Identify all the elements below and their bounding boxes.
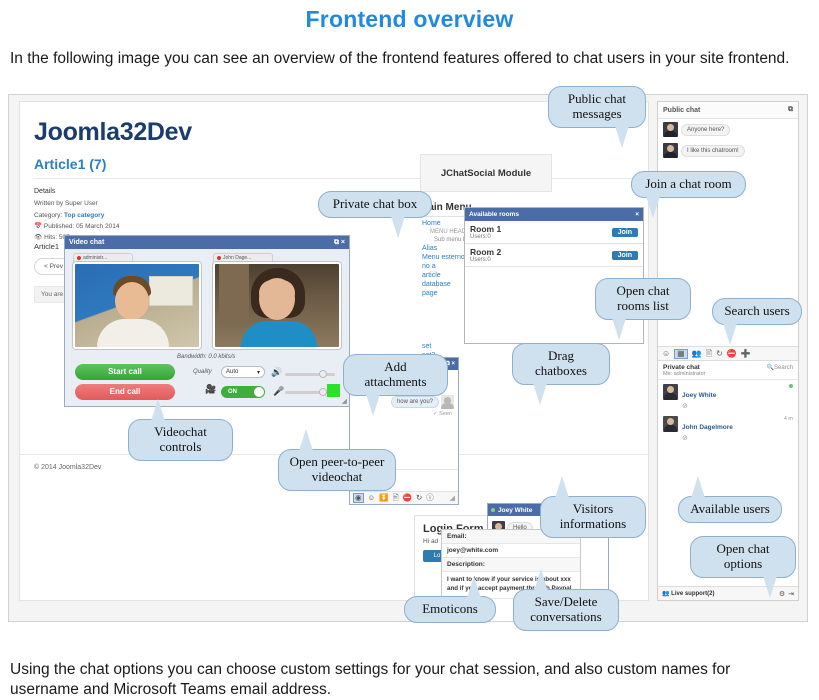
callout-label: Emoticons xyxy=(422,601,478,616)
callout-open-peer-to-peer-videochat: Open peer-to-peer videochat xyxy=(278,449,396,491)
public-chat-title: Public chat xyxy=(663,107,700,114)
callout-label: Drag chatboxes xyxy=(535,348,587,378)
start-call-button[interactable]: Start call xyxy=(75,364,175,380)
save-icon[interactable]: 🖹 xyxy=(706,350,712,358)
live-support-text: Live support(2) xyxy=(671,591,714,597)
refresh-icon[interactable]: ↻ xyxy=(416,494,422,502)
callout-label: Visitors informations xyxy=(560,501,626,531)
room-users: Users:0 xyxy=(470,234,501,240)
popout-icon[interactable]: ⧉ xyxy=(788,106,793,114)
message-bubble: how are you? xyxy=(391,396,439,408)
callout-private-chat-box: Private chat box xyxy=(318,191,432,218)
available-rooms-header: Available rooms × xyxy=(465,208,643,221)
page-title: Frontend overview xyxy=(0,6,819,33)
copyright-text: © 2014 Joomla32Dev xyxy=(34,464,101,471)
article-heading[interactable]: Article1 (7) xyxy=(34,156,106,172)
status-badge xyxy=(491,508,495,512)
list-item[interactable]: John Dagelmore ⊘ 4 m xyxy=(658,412,798,444)
save-icon[interactable]: 🖹 xyxy=(393,494,399,502)
video-pane-local: administr... xyxy=(73,253,201,349)
callout-label: Open peer-to-peer videochat xyxy=(290,454,385,484)
user-name: John Dagelmore xyxy=(682,424,733,431)
callout-open-chat-options: Open chat options xyxy=(690,536,796,578)
private-chat-subtitle: Me: administrator xyxy=(663,371,706,377)
eye-icon: 👁 xyxy=(34,234,42,241)
block-icon[interactable]: ⊘ xyxy=(682,403,789,410)
room-name: Room 1 xyxy=(470,224,501,234)
public-message: I like this chatroom! xyxy=(658,140,798,161)
info-icon[interactable]: ⓘ xyxy=(426,494,434,502)
video-label-remote: John Dage... xyxy=(213,253,273,262)
last-seen: 4 m xyxy=(784,416,793,442)
video-label-local: administr... xyxy=(73,253,133,262)
camera-toggle-label: ON xyxy=(228,389,237,395)
attachment-icon[interactable]: ⏬ xyxy=(379,494,388,502)
avatar xyxy=(663,416,678,432)
live-support-label[interactable]: 👥 Live support(2) xyxy=(662,590,715,597)
video-chat-title: Video chat xyxy=(69,239,104,246)
search-input[interactable]: 🔍Search xyxy=(767,364,794,371)
room-row: Room 2 Users:0 Join xyxy=(465,244,643,267)
article-body-label: Article1 xyxy=(34,242,59,251)
site-title: Joomla32Dev xyxy=(34,118,192,147)
description-label: Description: xyxy=(442,558,580,572)
maximize-icon[interactable]: ⧉ xyxy=(334,239,339,246)
callout-label: Videochat controls xyxy=(154,424,207,454)
close-icon[interactable]: × xyxy=(341,239,345,246)
video-pane-remote: John Dage... xyxy=(213,253,341,349)
avatar xyxy=(663,384,678,400)
callout-label: Public chat messages xyxy=(568,91,626,121)
search-placeholder: Search xyxy=(774,365,793,371)
sidebar-footer: 👥 Live support(2) ↗ ⚙ ⇥ xyxy=(658,586,798,600)
emoticon-icon[interactable]: ☺ xyxy=(662,350,670,358)
logout-icon[interactable]: ⇥ xyxy=(788,590,794,598)
email-value: joey@white.com xyxy=(442,544,580,558)
written-by: Written by Super User xyxy=(34,198,119,209)
bandwidth-label: Bandwidth: 0.0 kbits/s xyxy=(177,354,235,360)
room-name: Room 2 xyxy=(470,247,501,257)
callout-emoticons: Emoticons xyxy=(404,596,496,623)
quality-value: Auto xyxy=(226,369,238,375)
sidebar-toolbar: ☺ ▦ 👥 🖹 ↻ ⛔ ➕ xyxy=(658,346,798,361)
close-icon[interactable]: × xyxy=(451,361,455,367)
callout-label: Open chat options xyxy=(716,541,769,571)
room-row: Room 1 Users:0 Join xyxy=(465,221,643,244)
category-label: Category: xyxy=(34,212,62,219)
published-row: 📅 Published: 05 March 2014 xyxy=(34,221,119,232)
close-icon[interactable]: × xyxy=(635,211,639,218)
callout-visitors-informations: Visitors informations xyxy=(540,496,646,538)
search-icon: 🔍 xyxy=(767,365,774,371)
video-chat-header[interactable]: Video chat ⧉ × xyxy=(65,236,349,249)
list-item[interactable]: Joey White ⊘ xyxy=(658,380,798,412)
quality-label: Quality xyxy=(193,369,212,375)
private-chat-title: Private chat xyxy=(663,364,706,371)
refresh-icon[interactable]: ↻ xyxy=(716,350,723,358)
panel-icon[interactable]: ▦ xyxy=(674,349,688,359)
quality-select[interactable]: Auto ▾ xyxy=(221,366,265,378)
avatar xyxy=(663,122,678,137)
chat-options-icon[interactable]: ⚙ xyxy=(779,590,785,598)
callout-videochat-controls: Videochat controls xyxy=(128,419,233,461)
private-chat-header: Private chat Me: administrator 🔍Search xyxy=(658,361,798,380)
chevron-down-icon: ▾ xyxy=(257,369,260,376)
speaker-icon: 🔊 xyxy=(271,367,282,378)
category-link[interactable]: Top category xyxy=(64,212,104,219)
available-rooms-title: Available rooms xyxy=(469,211,519,218)
room-users: Users:0 xyxy=(470,257,501,263)
callout-label: Available users xyxy=(690,501,770,516)
message-bubble: I like this chatroom! xyxy=(681,145,745,157)
callout-save-delete-conversations: Save/Delete conversations xyxy=(513,589,619,631)
callout-open-chat-rooms-list: Open chat rooms list xyxy=(595,278,691,320)
signal-indicator xyxy=(327,384,340,397)
block-icon[interactable]: ⊘ xyxy=(682,435,784,442)
public-message: Anyone here? xyxy=(658,119,798,140)
callout-search-users: Search users xyxy=(712,298,802,325)
group-icon[interactable]: 👥 xyxy=(692,350,702,358)
join-button[interactable]: Join xyxy=(612,251,638,260)
calendar-icon: 📅 xyxy=(34,223,42,230)
published-text: Published: 05 March 2014 xyxy=(44,223,120,230)
end-call-button[interactable]: End call xyxy=(75,384,175,400)
join-button[interactable]: Join xyxy=(612,228,638,237)
category-row: Category: Top category xyxy=(34,210,119,221)
callout-drag-chatboxes: Drag chatboxes xyxy=(512,343,610,385)
avatar xyxy=(441,395,454,409)
video-chat-window: Video chat ⧉ × administr... John Dage... xyxy=(64,235,350,407)
avatar xyxy=(663,143,678,158)
add-icon[interactable]: ➕ xyxy=(741,350,751,358)
record-icon xyxy=(217,256,221,260)
callout-available-users: Available users xyxy=(678,496,782,523)
camera-icon: 🎥 xyxy=(205,384,216,395)
details-label: Details xyxy=(34,186,119,198)
camera-toggle[interactable]: ON xyxy=(221,386,265,398)
callout-add-attachments: Add attachments xyxy=(343,354,448,396)
callout-label: Open chat rooms list xyxy=(616,283,669,313)
delete-icon[interactable]: ⛔ xyxy=(403,494,412,502)
resize-handle[interactable]: ◢ xyxy=(342,397,347,405)
local-user-name: administr... xyxy=(83,255,107,261)
callout-label: Save/Delete conversations xyxy=(530,594,601,624)
john-chat-footer: ◉ ☺ ⏬ 🖹 ⛔ ↻ ⓘ ◢ xyxy=(350,491,458,504)
resize-handle[interactable]: ◢ xyxy=(450,494,455,502)
user-name: Joey White xyxy=(682,392,716,399)
callout-label: Add attachments xyxy=(364,359,426,389)
status-badge xyxy=(789,384,793,388)
record-icon xyxy=(77,256,81,260)
joey-chat-title: Joey White xyxy=(498,507,532,514)
intro-paragraph: In the following image you can see an ov… xyxy=(0,49,819,69)
volume-slider[interactable] xyxy=(285,373,335,376)
callout-label: Private chat box xyxy=(333,196,417,211)
callout-label: Search users xyxy=(724,303,789,318)
video-call-icon[interactable]: ◉ xyxy=(353,493,364,503)
group-icon: 👥 xyxy=(662,591,669,597)
jchatsocial-module-box: JChatSocial Module xyxy=(420,154,552,192)
video-feed-remote xyxy=(213,262,341,349)
block-icon[interactable]: ⛔ xyxy=(727,350,737,358)
microphone-icon: 🎤 xyxy=(273,386,284,397)
message-bubble: Anyone here? xyxy=(681,124,730,136)
callout-join-a-chat-room: Join a chat room xyxy=(631,171,746,198)
remote-user-name: John Dage... xyxy=(223,255,251,261)
public-chat-header: Public chat ⧉ xyxy=(658,102,798,119)
video-feed-local xyxy=(73,262,201,349)
callout-public-chat-messages: Public chat messages xyxy=(548,86,646,128)
callout-label: Join a chat room xyxy=(645,176,731,191)
emoticon-icon[interactable]: ☺ xyxy=(368,494,376,502)
